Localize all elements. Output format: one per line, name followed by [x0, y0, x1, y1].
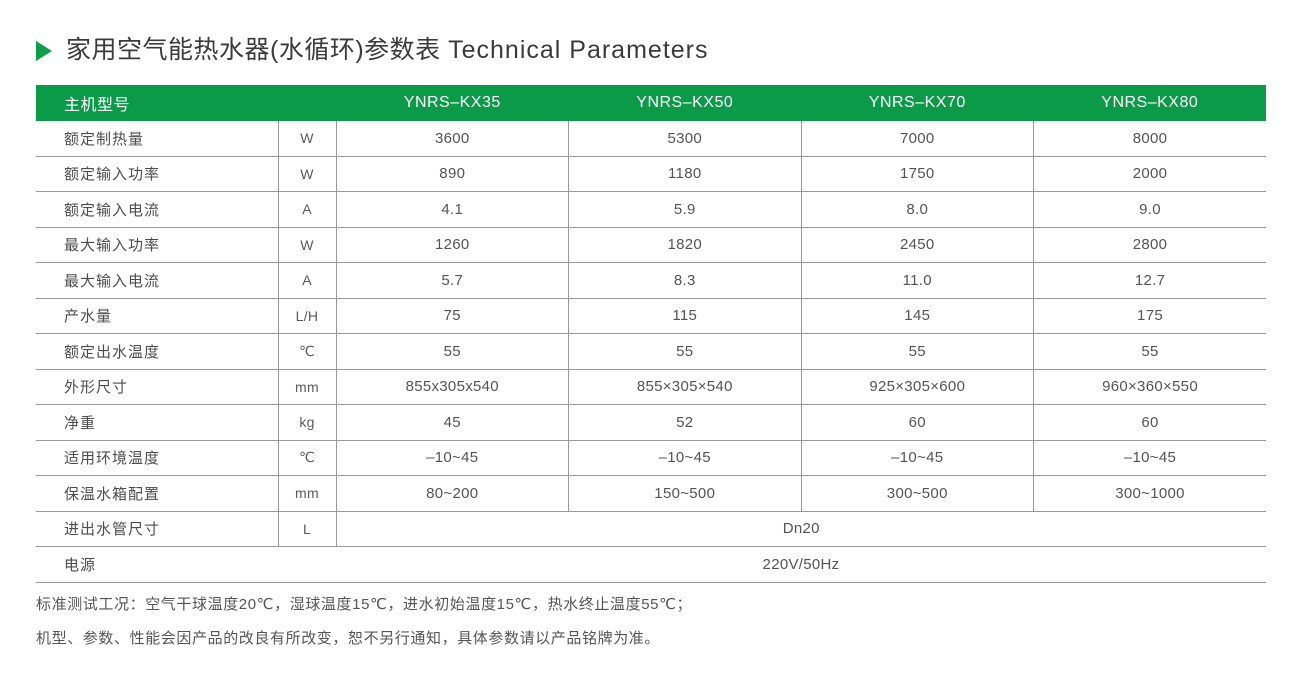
table-header-row: 主机型号 YNRS–KX35 YNRS–KX50 YNRS–KX70 YNRS–…	[36, 85, 1266, 121]
row-value: 55	[336, 334, 569, 370]
row-value: –10~45	[569, 440, 802, 476]
spec-table: 主机型号 YNRS–KX35 YNRS–KX50 YNRS–KX70 YNRS–…	[36, 85, 1266, 583]
row-label: 进出水管尺寸	[36, 511, 278, 547]
row-value: 45	[336, 405, 569, 441]
row-value: 5.9	[569, 192, 802, 228]
header-cell-label: 主机型号	[36, 85, 336, 121]
row-unit: A	[278, 192, 336, 228]
table-row: 外形尺寸 mm 855x305x540 855×305×540 925×305×…	[36, 369, 1266, 405]
row-value: 8000	[1034, 121, 1267, 156]
footnote-line: 标准测试工况：空气干球温度20℃，湿球温度15℃，进水初始温度15℃，热水终止温…	[36, 588, 1236, 622]
row-value: –10~45	[1034, 440, 1267, 476]
triangle-right-icon	[36, 41, 52, 61]
page-title: 家用空气能热水器(水循环)参数表 Technical Parameters	[36, 38, 709, 63]
row-unit: L/H	[278, 298, 336, 334]
row-unit: W	[278, 227, 336, 263]
table-row: 额定输入电流 A 4.1 5.9 8.0 9.0	[36, 192, 1266, 228]
row-unit: mm	[278, 369, 336, 405]
row-unit: ℃	[278, 334, 336, 370]
row-value: 7000	[801, 121, 1034, 156]
row-label: 额定出水温度	[36, 334, 278, 370]
spec-table-wrapper: 主机型号 YNRS–KX35 YNRS–KX50 YNRS–KX70 YNRS–…	[36, 85, 1266, 583]
page-title-text: 家用空气能热水器(水循环)参数表 Technical Parameters	[66, 38, 709, 63]
row-value-merged: 220V/50Hz	[336, 547, 1266, 583]
row-unit: W	[278, 156, 336, 192]
row-value: 925×305×600	[801, 369, 1034, 405]
table-row: 适用环境温度 ℃ –10~45 –10~45 –10~45 –10~45	[36, 440, 1266, 476]
row-value: 60	[1034, 405, 1267, 441]
footnotes: 标准测试工况：空气干球温度20℃，湿球温度15℃，进水初始温度15℃，热水终止温…	[36, 588, 1236, 656]
row-value: 12.7	[1034, 263, 1267, 299]
row-unit: A	[278, 263, 336, 299]
row-value: 2000	[1034, 156, 1267, 192]
row-value: 75	[336, 298, 569, 334]
row-label: 电源	[36, 547, 336, 583]
spec-table-head: 主机型号 YNRS–KX35 YNRS–KX50 YNRS–KX70 YNRS–…	[36, 85, 1266, 121]
row-value: –10~45	[336, 440, 569, 476]
row-value: 855×305×540	[569, 369, 802, 405]
footnote-line: 机型、参数、性能会因产品的改良有所改变，恕不另行通知，具体参数请以产品铭牌为准。	[36, 622, 1236, 656]
table-row-merged: 电源 220V/50Hz	[36, 547, 1266, 583]
row-value: 175	[1034, 298, 1267, 334]
row-value-merged: Dn20	[336, 511, 1266, 547]
row-value: 8.0	[801, 192, 1034, 228]
row-unit: mm	[278, 476, 336, 512]
row-label: 额定输入功率	[36, 156, 278, 192]
page-title-cn: 家用空气能热水器(水循环)参数表	[66, 36, 441, 64]
row-value: 8.3	[569, 263, 802, 299]
table-row: 最大输入电流 A 5.7 8.3 11.0 12.7	[36, 263, 1266, 299]
row-value: 115	[569, 298, 802, 334]
row-value: 80~200	[336, 476, 569, 512]
row-value: 855x305x540	[336, 369, 569, 405]
row-value: 3600	[336, 121, 569, 156]
row-value: 1260	[336, 227, 569, 263]
row-value: –10~45	[801, 440, 1034, 476]
row-value: 9.0	[1034, 192, 1267, 228]
spec-table-body: 额定制热量 W 3600 5300 7000 8000 额定输入功率 W 890…	[36, 121, 1266, 582]
row-value: 5.7	[336, 263, 569, 299]
table-row: 额定输入功率 W 890 1180 1750 2000	[36, 156, 1266, 192]
row-value: 60	[801, 405, 1034, 441]
header-cell-model-0: YNRS–KX35	[336, 85, 569, 121]
row-value: 2800	[1034, 227, 1267, 263]
table-row: 最大输入功率 W 1260 1820 2450 2800	[36, 227, 1266, 263]
row-label: 最大输入功率	[36, 227, 278, 263]
row-label: 最大输入电流	[36, 263, 278, 299]
row-value: 11.0	[801, 263, 1034, 299]
row-label: 额定输入电流	[36, 192, 278, 228]
table-row-merged: 进出水管尺寸 L Dn20	[36, 511, 1266, 547]
table-row: 产水量 L/H 75 115 145 175	[36, 298, 1266, 334]
row-value: 890	[336, 156, 569, 192]
row-value: 1750	[801, 156, 1034, 192]
row-value: 55	[1034, 334, 1267, 370]
row-unit: L	[278, 511, 336, 547]
row-unit: kg	[278, 405, 336, 441]
table-row: 额定出水温度 ℃ 55 55 55 55	[36, 334, 1266, 370]
table-row: 额定制热量 W 3600 5300 7000 8000	[36, 121, 1266, 156]
row-label: 产水量	[36, 298, 278, 334]
table-row: 保温水箱配置 mm 80~200 150~500 300~500 300~100…	[36, 476, 1266, 512]
row-value: 4.1	[336, 192, 569, 228]
row-value: 1820	[569, 227, 802, 263]
row-value: 55	[801, 334, 1034, 370]
row-value: 145	[801, 298, 1034, 334]
row-value: 300~1000	[1034, 476, 1267, 512]
spec-sheet-page: 家用空气能热水器(水循环)参数表 Technical Parameters 主机…	[0, 0, 1299, 695]
row-value: 1180	[569, 156, 802, 192]
row-label: 净重	[36, 405, 278, 441]
row-value: 52	[569, 405, 802, 441]
row-value: 2450	[801, 227, 1034, 263]
page-title-en: Technical Parameters	[448, 36, 708, 64]
row-value: 300~500	[801, 476, 1034, 512]
header-cell-model-3: YNRS–KX80	[1034, 85, 1267, 121]
table-row: 净重 kg 45 52 60 60	[36, 405, 1266, 441]
header-cell-model-1: YNRS–KX50	[569, 85, 802, 121]
row-unit: ℃	[278, 440, 336, 476]
row-value: 150~500	[569, 476, 802, 512]
row-label: 外形尺寸	[36, 369, 278, 405]
header-cell-model-2: YNRS–KX70	[801, 85, 1034, 121]
row-value: 960×360×550	[1034, 369, 1267, 405]
row-value: 55	[569, 334, 802, 370]
row-label: 保温水箱配置	[36, 476, 278, 512]
row-value: 5300	[569, 121, 802, 156]
row-label: 适用环境温度	[36, 440, 278, 476]
row-unit: W	[278, 121, 336, 156]
row-label: 额定制热量	[36, 121, 278, 156]
